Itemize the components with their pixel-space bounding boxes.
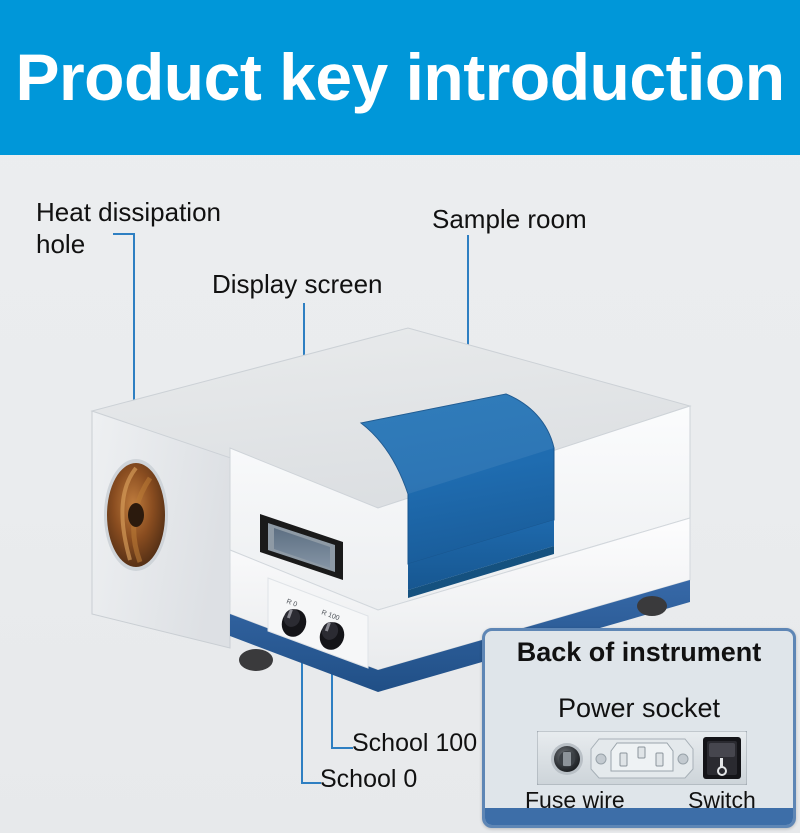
back-of-instrument-inset: Back of instrument Power socket xyxy=(482,628,796,828)
rear-connector-plate xyxy=(537,731,747,785)
leader-line-heat-stub xyxy=(113,233,135,235)
leader-line-school-0-elbow xyxy=(301,782,321,784)
callout-label-school-0: School 0 xyxy=(320,763,417,795)
callout-label-school-100: School 100 xyxy=(352,727,477,759)
power-switch[interactable] xyxy=(703,737,741,779)
callout-label-heat-dissipation-hole: Heat dissipation hole xyxy=(36,196,221,260)
inset-title: Back of instrument xyxy=(485,637,793,668)
fuse-holder[interactable] xyxy=(551,743,583,775)
page-title: Product key introduction xyxy=(0,0,800,155)
inset-subtitle: Power socket xyxy=(485,693,793,724)
callout-label-display-screen: Display screen xyxy=(212,268,383,300)
leader-line-school-100-elbow xyxy=(331,747,353,749)
callout-label-sample-room: Sample room xyxy=(432,203,587,235)
product-introduction-page: Product key introduction Heat dissipatio… xyxy=(0,0,800,833)
instrument-foot-left xyxy=(239,649,273,671)
instrument-foot-right xyxy=(637,596,667,616)
power-socket-inlet[interactable] xyxy=(591,739,693,778)
inset-bottom-bar xyxy=(485,808,793,825)
heat-dissipation-hole xyxy=(104,459,168,571)
page-header-banner: Product key introduction xyxy=(0,0,800,155)
